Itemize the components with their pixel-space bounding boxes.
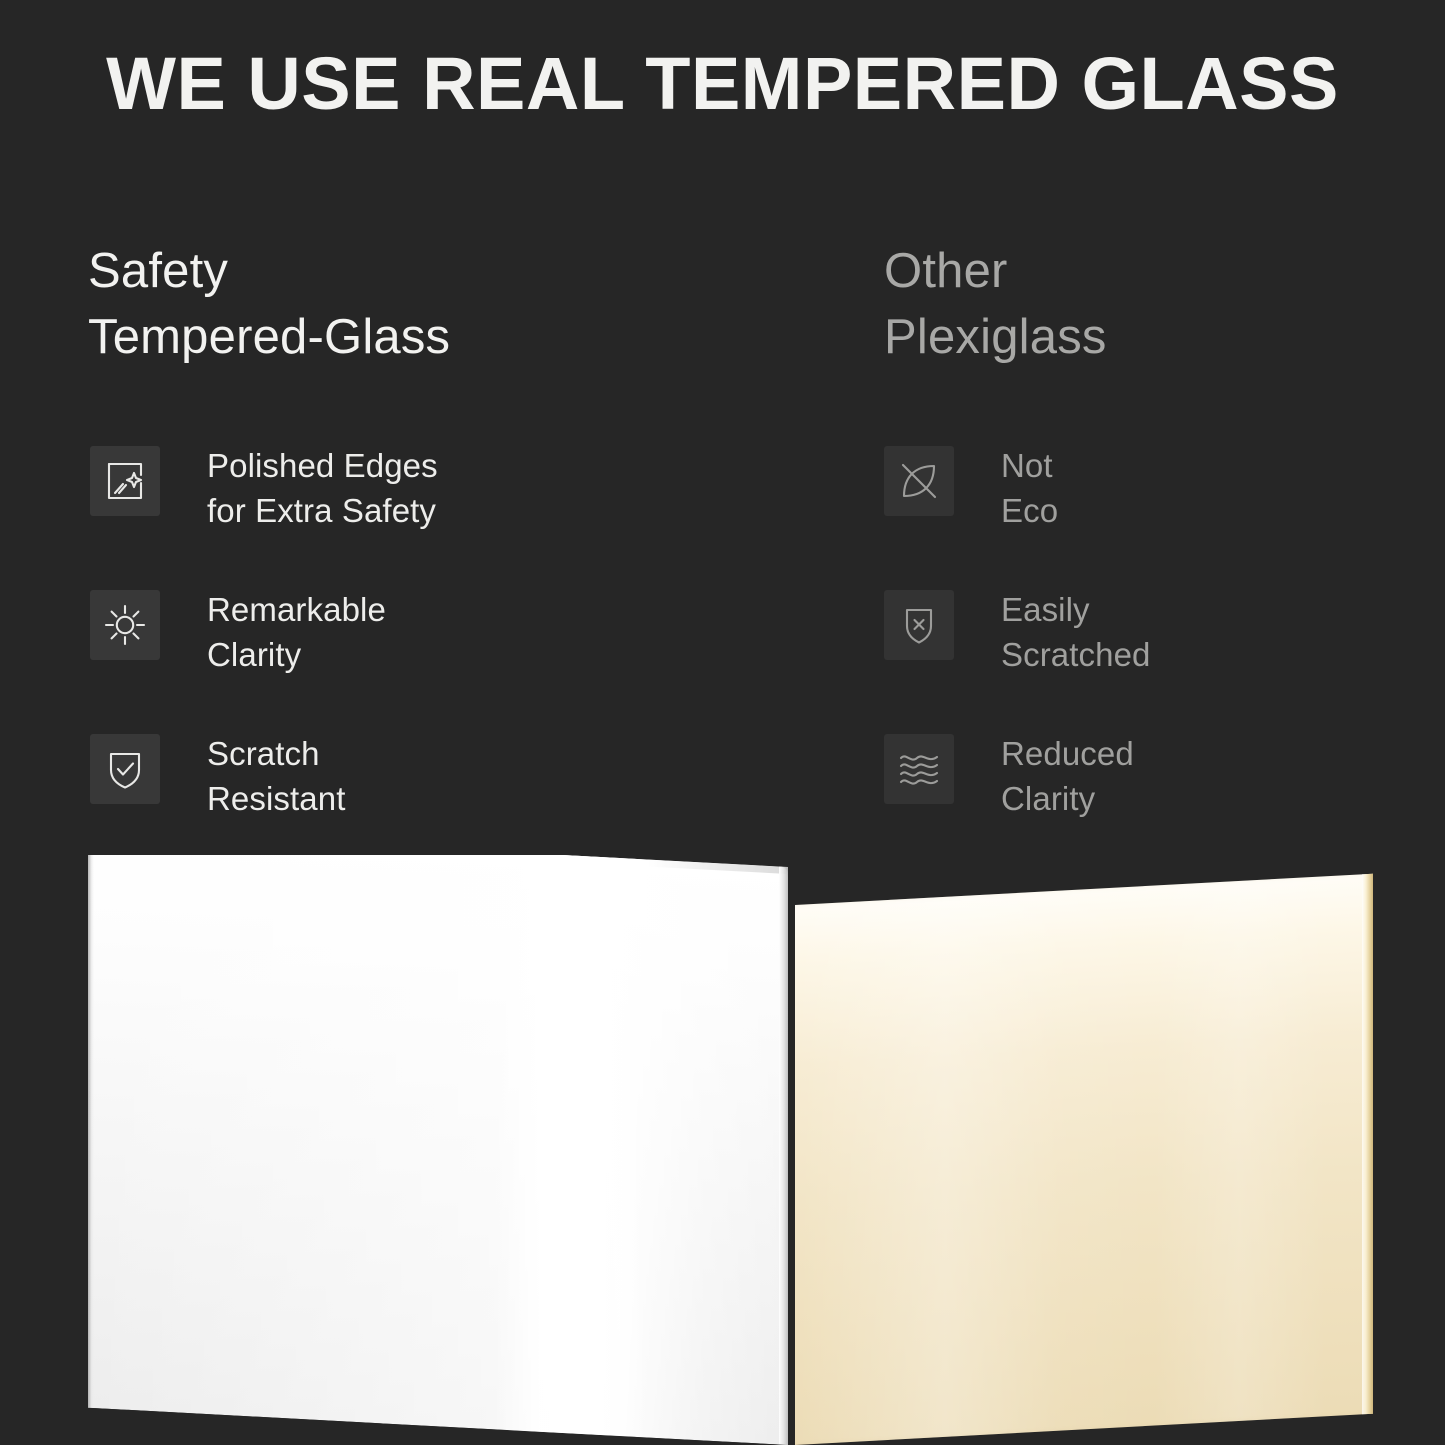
feature-row: Remarkable Clarity xyxy=(90,587,438,731)
shield-x-icon xyxy=(884,590,954,660)
feature-row: Reduced Clarity xyxy=(884,731,1150,875)
page-title: WE USE REAL TEMPERED GLASS xyxy=(0,38,1445,130)
feature-list-tempered-glass: Polished Edges for Extra Safety Remarkab… xyxy=(90,443,438,875)
feature-label: Reduced Clarity xyxy=(954,731,1134,821)
plexiglass-panel-edge xyxy=(1362,874,1373,1415)
column-left: Safety Tempered-Glass xyxy=(88,238,788,370)
leaf-crossed-out-icon xyxy=(884,446,954,516)
product-photo-area xyxy=(0,855,1445,1445)
tempered-glass-highlight xyxy=(494,855,648,1438)
feature-row: Polished Edges for Extra Safety xyxy=(90,443,438,587)
feature-row: Not Eco xyxy=(884,443,1150,587)
feature-list-plexiglass: Not Eco Easily Scratched xyxy=(884,443,1150,875)
tempered-glass-left-edge xyxy=(88,855,94,1408)
sun-icon xyxy=(90,590,160,660)
column-left-heading: Safety Tempered-Glass xyxy=(88,238,788,370)
feature-label: Scratch Resistant xyxy=(160,731,345,821)
shield-check-icon xyxy=(90,734,160,804)
feature-label: Remarkable Clarity xyxy=(160,587,386,677)
feature-label: Easily Scratched xyxy=(954,587,1150,677)
tempered-glass-panel xyxy=(88,855,788,1445)
column-right: Other Plexiglass xyxy=(884,238,1404,370)
tempered-glass-right-edge xyxy=(779,867,788,1445)
polished-glass-panel-icon xyxy=(90,446,160,516)
feature-label: Polished Edges for Extra Safety xyxy=(160,443,438,533)
feature-row: Easily Scratched xyxy=(884,587,1150,731)
comparison-infographic: WE USE REAL TEMPERED GLASS Safety Temper… xyxy=(0,0,1445,1445)
column-right-heading: Other Plexiglass xyxy=(884,238,1404,370)
tempered-glass-polished-top-edge xyxy=(88,855,788,874)
plexiglass-panel xyxy=(795,874,1373,1445)
feature-row: Scratch Resistant xyxy=(90,731,438,875)
wavy-lines-icon xyxy=(884,734,954,804)
feature-label: Not Eco xyxy=(954,443,1058,533)
